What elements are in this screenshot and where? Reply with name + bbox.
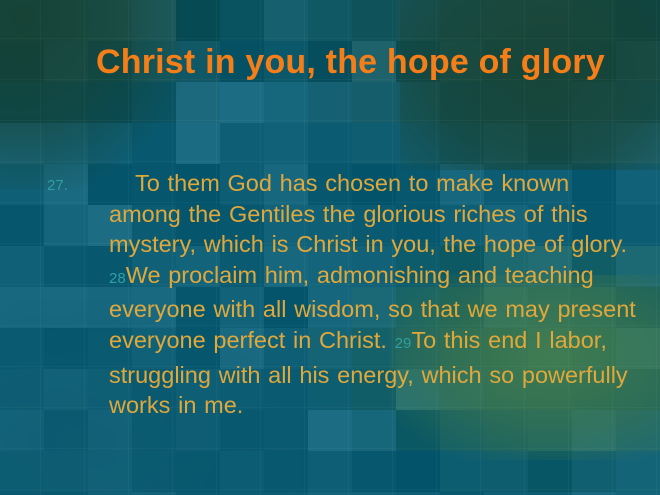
presentation-slide: Christ in you, the hope of glory 27. To …	[0, 0, 660, 495]
verse-number-29: 29	[395, 335, 412, 352]
scripture-passage: To them God has chosen to make known amo…	[45, 168, 645, 421]
slide-body: 27. To them God has chosen to make known…	[45, 168, 645, 421]
passage-intro-text: To them God has chosen to make known amo…	[109, 170, 627, 257]
slide-title: Christ in you, the hope of glory	[96, 42, 616, 83]
verse-number-28: 28	[109, 270, 126, 287]
slide-content: Christ in you, the hope of glory 27. To …	[0, 0, 660, 495]
list-marker: 27.	[47, 178, 68, 193]
